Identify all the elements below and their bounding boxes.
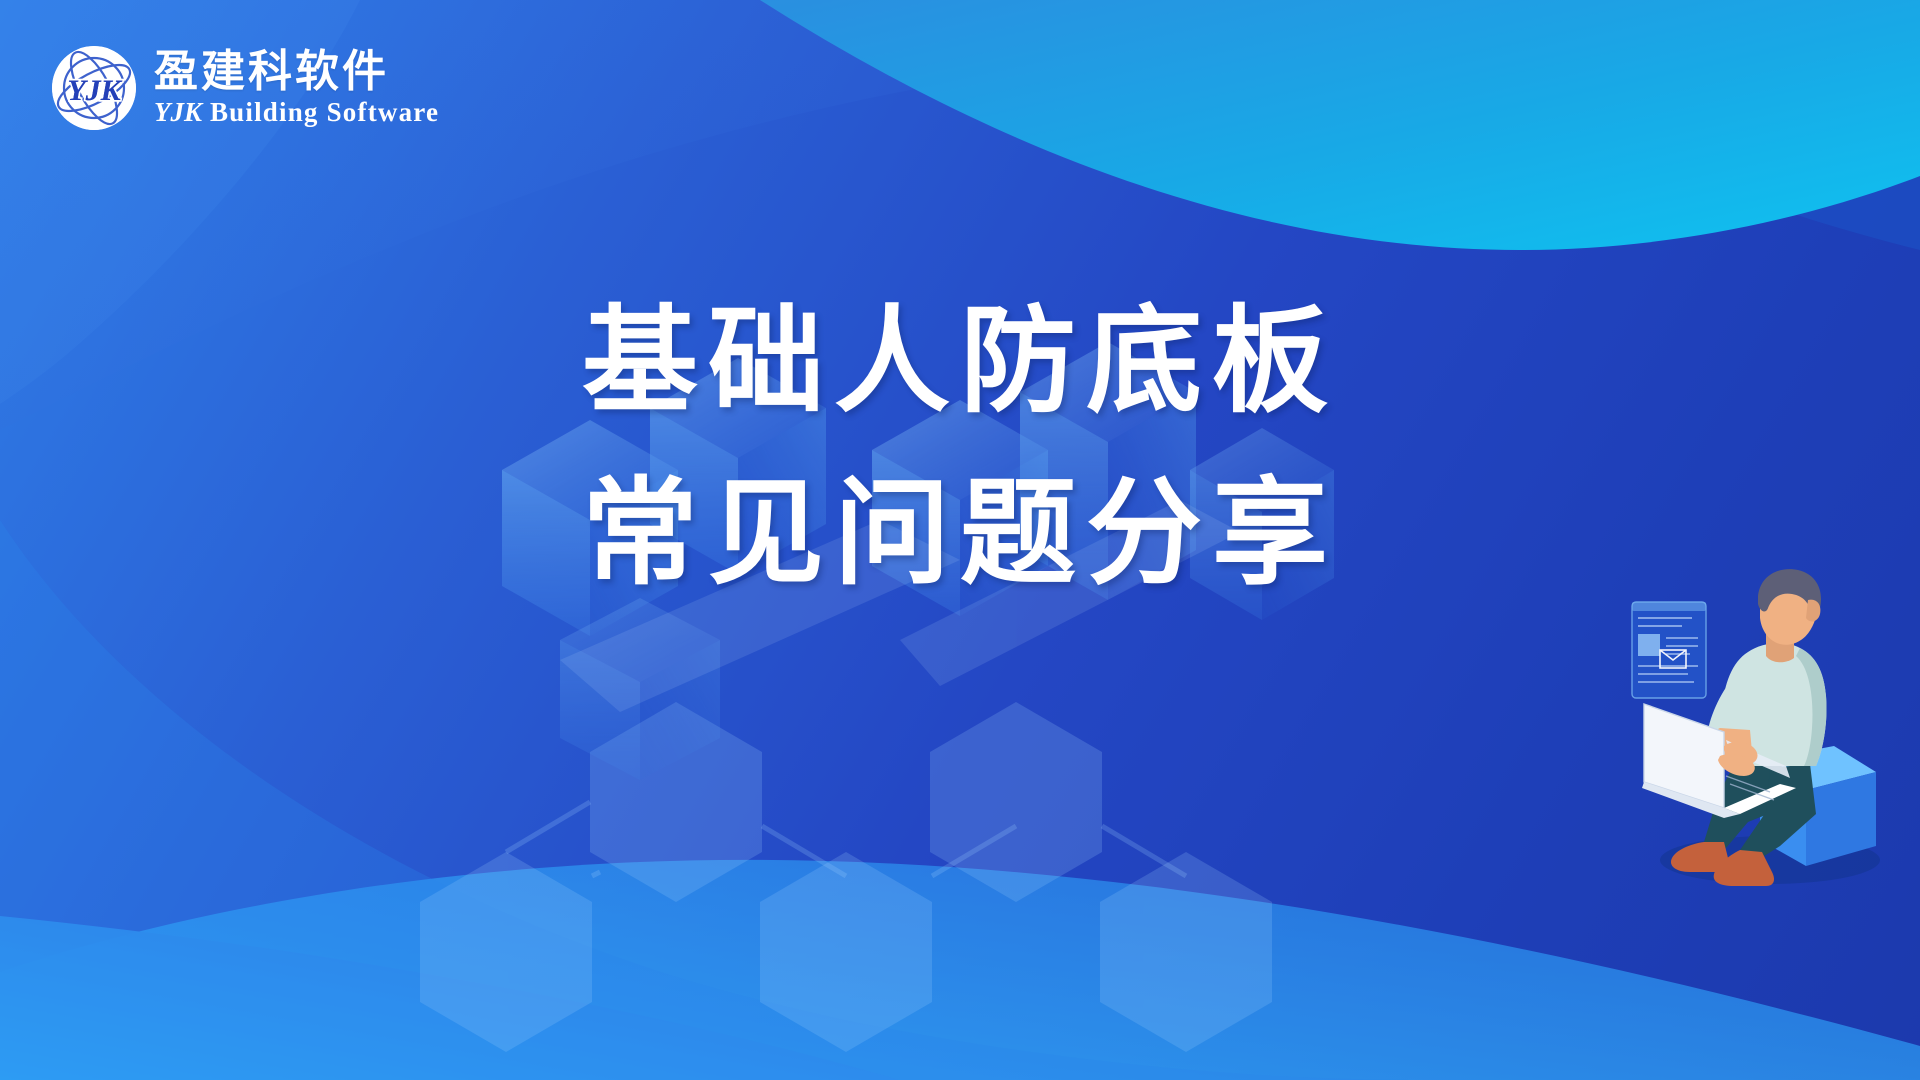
brand-logo[interactable]: YJK YJK 盈建科软件 YJK Building Software — [52, 46, 439, 130]
title-slide: YJK YJK 盈建科软件 YJK Building Software 基础人防… — [0, 0, 1920, 1080]
wave-top-right-cyan-shape — [760, 0, 1920, 250]
logo-abbr: YJK — [154, 97, 202, 127]
title-line-1: 基础人防底板 — [0, 276, 1920, 448]
hexagon-network-pattern — [420, 702, 1272, 1052]
logo-company-name-cn: 盈建科软件 — [154, 50, 439, 94]
svg-text:YJK: YJK — [67, 74, 122, 107]
logo-en-rest: Building Software — [210, 97, 439, 127]
logo-company-name-en: YJK Building Software — [154, 99, 439, 126]
title-line-2: 常见问题分享 — [0, 448, 1920, 620]
yjk-globe-icon: YJK YJK — [52, 46, 136, 130]
page-title: 基础人防底板 常见问题分享 — [0, 276, 1920, 619]
